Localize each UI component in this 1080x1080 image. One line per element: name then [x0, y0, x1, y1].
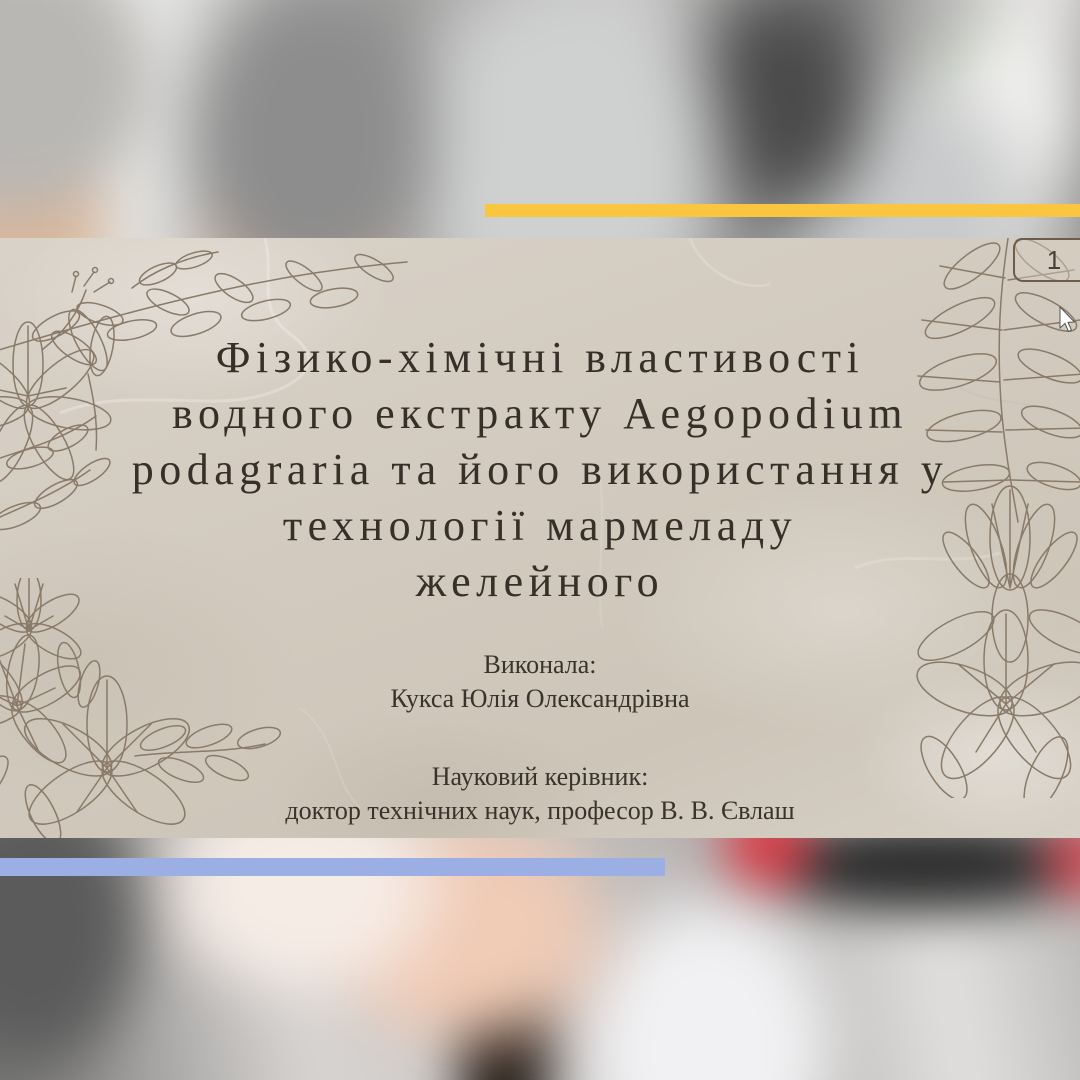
title-line-2: водного екстракту Aegopodium — [0, 386, 1080, 442]
presentation-slide: Фізико-хімічні властивості водного екстр… — [0, 238, 1080, 838]
title-line-5: желейного — [0, 554, 1080, 610]
title-line-3: podagraria та його використання у — [0, 442, 1080, 498]
author-label: Виконала: — [0, 648, 1080, 682]
mouse-pointer-icon — [1058, 306, 1078, 334]
slide-viewer: Фізико-хімічні властивості водного екстр… — [0, 0, 1080, 1080]
author-name: Кукса Юлія Олександрівна — [0, 682, 1080, 716]
slide-credits: Виконала: Кукса Юлія Олександрівна Науко… — [0, 648, 1080, 828]
blue-accent-bar — [0, 858, 665, 876]
supervisor-name: доктор технічних наук, професор В. В. Єв… — [0, 794, 1080, 828]
supervisor-label: Науковий керівник: — [0, 760, 1080, 794]
title-line-4: технології мармеладу — [0, 498, 1080, 554]
credits-spacer — [0, 716, 1080, 760]
page-number-badge[interactable]: 1 — [1013, 238, 1080, 282]
slide-title: Фізико-хімічні властивості водного екстр… — [0, 330, 1080, 610]
title-line-1: Фізико-хімічні властивості — [0, 330, 1080, 386]
yellow-accent-bar — [485, 204, 1080, 217]
